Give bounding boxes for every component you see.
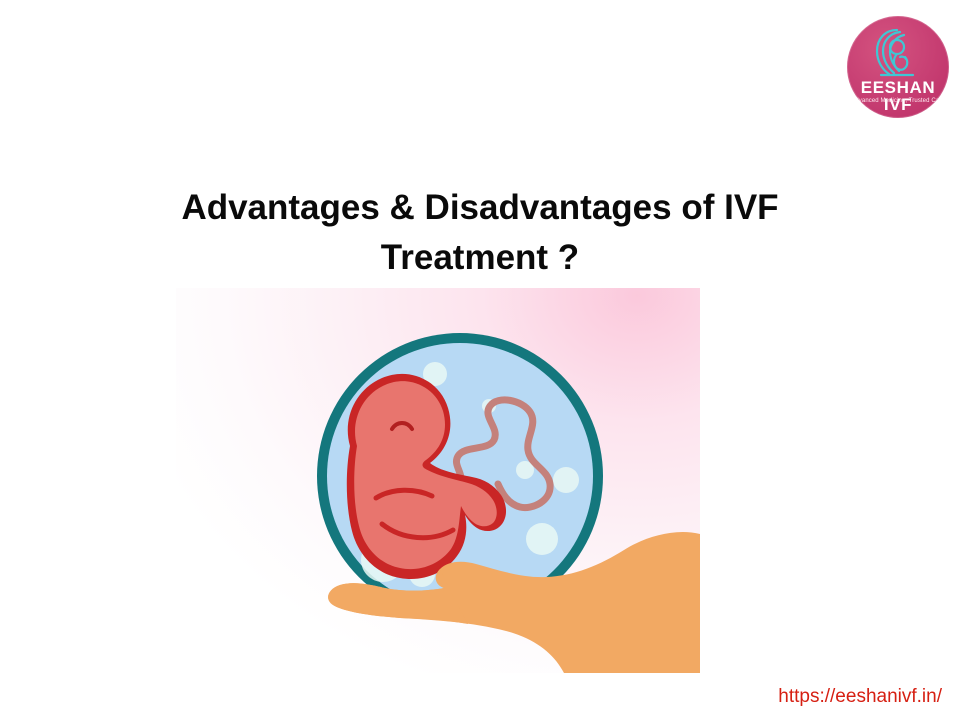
embryo-in-bubble-graphic	[176, 288, 700, 673]
ivf-illustration	[176, 288, 700, 673]
logo-name: EESHAN IVF	[847, 79, 949, 113]
brand-logo[interactable]: EESHAN IVF Advanced Medicine, Trusted Ca…	[847, 16, 949, 118]
mother-and-baby-icon	[867, 26, 929, 82]
site-url-link[interactable]: https://eeshanivf.in/	[778, 686, 942, 708]
page-title: Advantages & Disadvantages of IVF Treatm…	[110, 183, 850, 282]
logo-tagline: Advanced Medicine, Trusted Care	[847, 98, 949, 104]
slide-canvas: EESHAN IVF Advanced Medicine, Trusted Ca…	[0, 0, 960, 720]
